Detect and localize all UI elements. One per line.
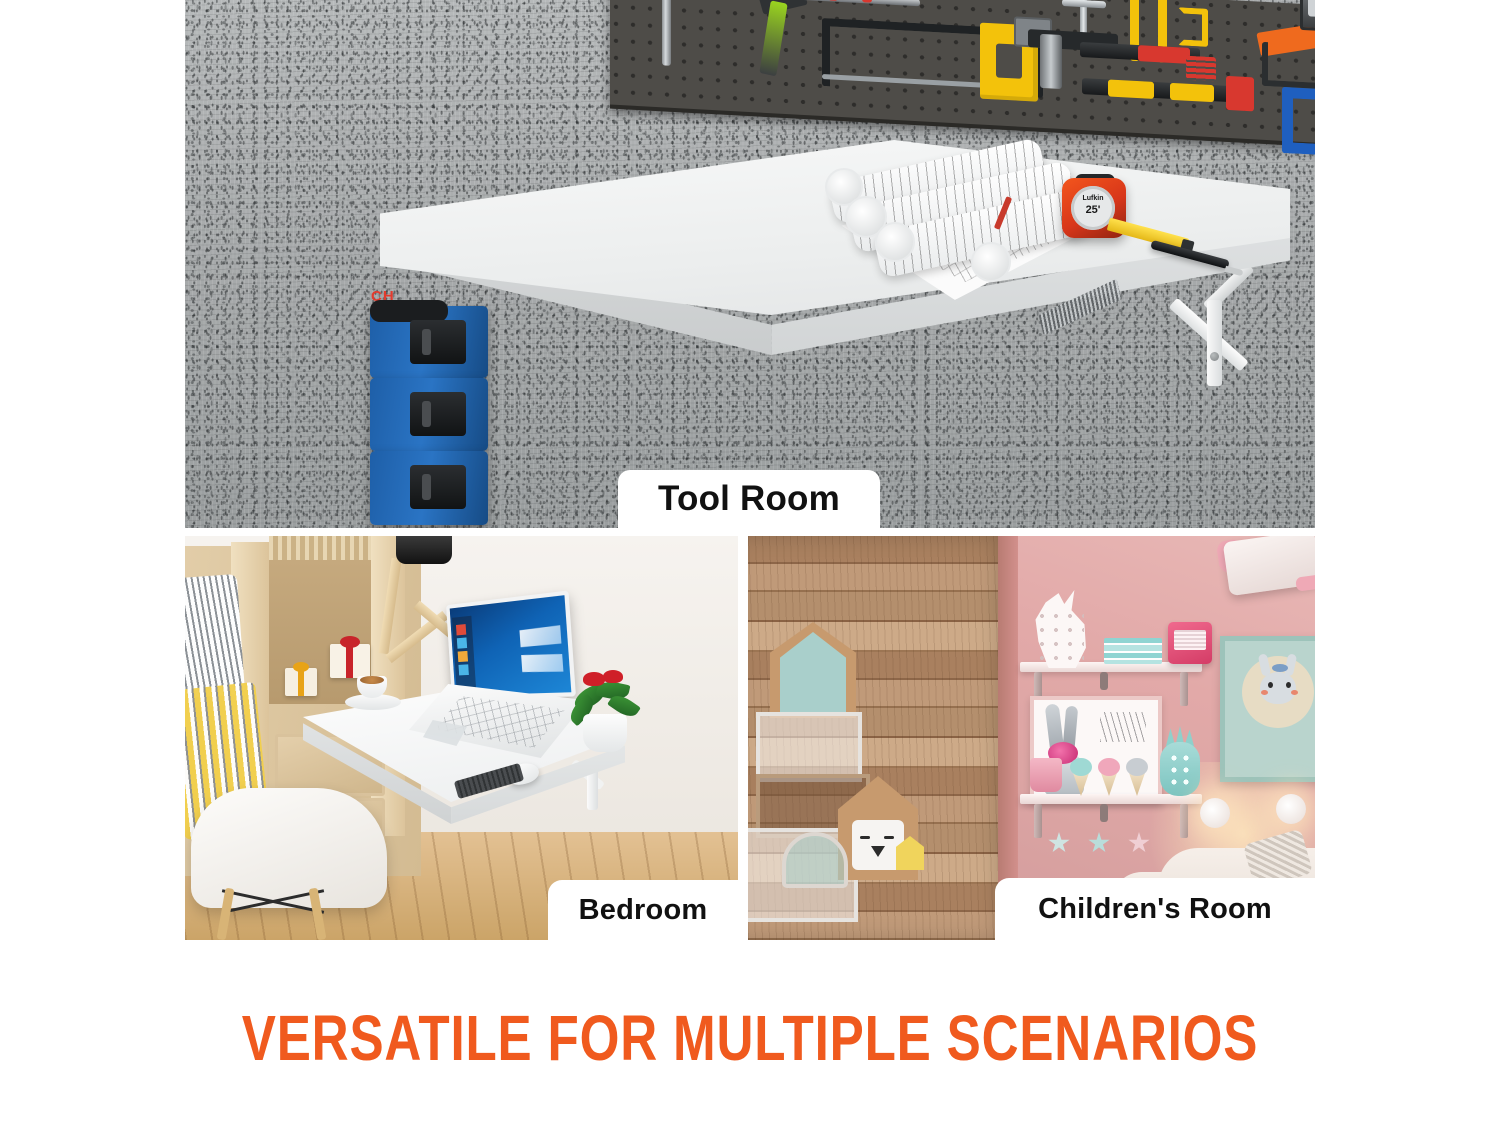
ice-cream-scoop-icon — [1126, 758, 1148, 776]
poster-cheek-icon — [1291, 690, 1298, 695]
orange-saw-blade-icon — [1262, 42, 1315, 91]
cabinet-rail — [269, 536, 371, 560]
folding-bracket-plate — [1207, 300, 1222, 386]
desk-chair — [191, 788, 387, 908]
shelf-bracket — [1034, 804, 1042, 838]
ice-cream-scoop-icon — [1070, 758, 1092, 776]
hacksaw-grip-hole-icon — [996, 43, 1022, 78]
hammer-yellow-grip-icon — [1108, 79, 1154, 98]
poster-rabbit-face-icon — [1260, 672, 1296, 704]
poster-cheek-icon — [1261, 690, 1268, 695]
pineapple-lamp-bulbs — [1168, 752, 1192, 786]
label-tool-room: Tool Room — [618, 470, 880, 528]
tape-brand-text: Lufkin — [1083, 195, 1104, 202]
label-children-room: Children's Room — [995, 878, 1315, 940]
poster-eye-icon — [1268, 682, 1273, 688]
red-flower-icon — [603, 670, 623, 683]
wall-sconce-light-icon — [1200, 798, 1230, 828]
bracket-screw-icon — [1210, 352, 1219, 361]
books-stack — [1104, 638, 1162, 664]
frame-text-scribble — [1100, 712, 1146, 742]
unicorn-lamp-bulbs — [1036, 610, 1084, 660]
tool-case-handle — [370, 300, 448, 322]
start-tile-icon — [458, 651, 468, 662]
tape-size-text: 25' — [1086, 204, 1101, 216]
hammer-red-grip-icon — [1138, 45, 1190, 64]
red-claw-icon — [1226, 76, 1254, 112]
toy-radio-speaker-icon — [1174, 630, 1206, 650]
shelf-hook-icon — [1100, 804, 1108, 822]
toy-eye-icon — [884, 836, 894, 839]
toy-nose-icon — [871, 846, 885, 857]
drill-bit-icon — [662, 0, 671, 66]
tool-case-latch — [410, 465, 466, 509]
tool-case-latch — [410, 392, 466, 436]
toy-eye-icon — [860, 836, 870, 839]
promo-collage: Lufkin 25' CH — [0, 0, 1500, 1125]
hammer-head-icon — [1040, 34, 1062, 89]
start-tile-icon — [459, 664, 469, 675]
gift-box-icon — [330, 644, 370, 678]
coffee-surface — [360, 676, 384, 684]
laptop-screen — [446, 590, 576, 699]
yellow-hook-icon — [1178, 7, 1208, 47]
windows-logo-icon — [521, 652, 565, 693]
striped-pillow — [185, 574, 245, 698]
poster-rabbit-bow-icon — [1272, 664, 1288, 672]
shelf-bracket — [1180, 672, 1188, 706]
red-flower-icon — [583, 672, 605, 686]
tool-box-panel-icon — [1308, 0, 1315, 19]
tape-measure-brand: Lufkin 25' — [1071, 195, 1115, 218]
gift-box-icon — [285, 668, 317, 696]
shelf-box — [756, 712, 862, 782]
panel-tool-room: Lufkin 25' CH — [185, 0, 1315, 528]
blue-clamp-icon — [1282, 87, 1315, 157]
poster-eye-icon — [1286, 682, 1291, 688]
desk-lamp-shade — [396, 536, 452, 564]
chrome-wrench-bar-icon — [1062, 0, 1106, 8]
shelf-bracket — [1180, 804, 1188, 838]
headline-text: VERSATILE FOR MULTIPLE SCENARIOS — [150, 1002, 1350, 1074]
red-striped-grip-icon — [1186, 56, 1216, 82]
start-tile-icon — [456, 624, 466, 635]
storage-bucket-icon — [1030, 758, 1062, 792]
ice-cream-scoop-icon — [1098, 758, 1120, 776]
blueprint-roll-end — [971, 242, 1011, 282]
start-tile-icon — [457, 637, 467, 648]
wall-sconce-light-icon — [1276, 794, 1306, 824]
label-bedroom: Bedroom — [548, 880, 746, 940]
shelf-hook-icon — [1100, 672, 1108, 690]
plant-pot — [583, 714, 627, 752]
metal-rod-icon — [800, 0, 920, 6]
blueprint-roll-end — [875, 222, 915, 262]
tool-case-latch — [410, 320, 466, 364]
hammer-yellow-grip-icon — [1170, 83, 1214, 102]
ceiling-lamp-pink-accent — [1295, 574, 1315, 591]
